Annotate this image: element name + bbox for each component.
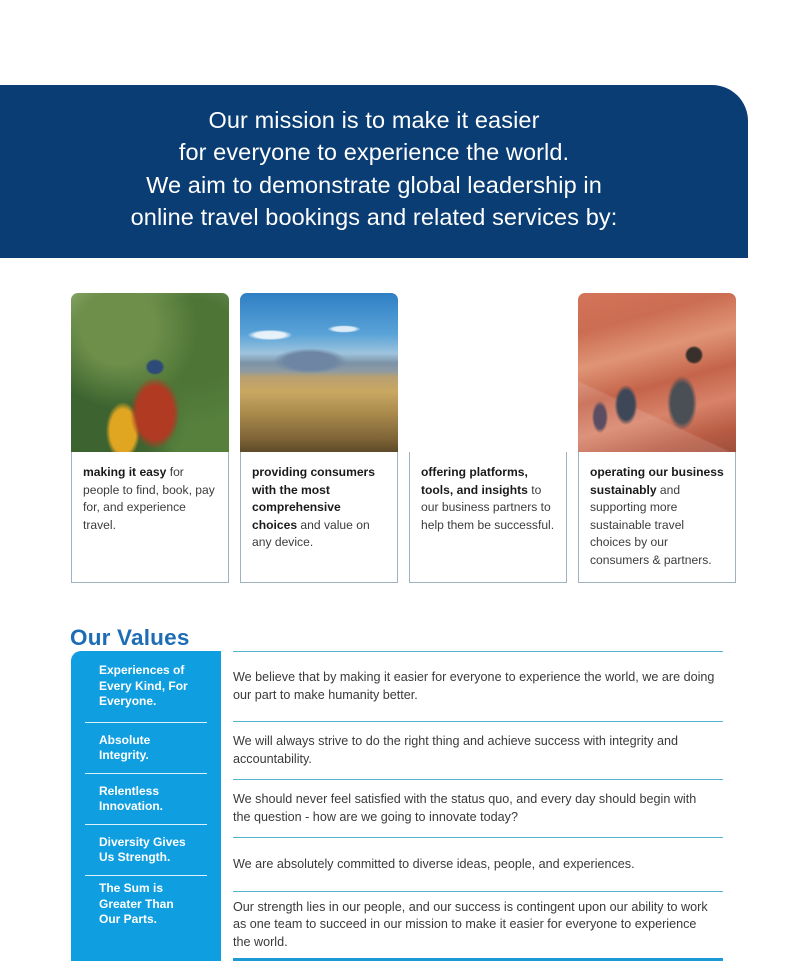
values-label-column: Experiences of Every Kind, For Everyone.…: [71, 651, 221, 961]
mission-line-2: for everyone to experience the world.: [179, 136, 569, 169]
red-rock-hikers-photo: [578, 293, 736, 452]
value-row: We will always strive to do the right th…: [233, 721, 723, 779]
pillar-card-text: making it easy for people to find, book,…: [83, 464, 217, 534]
pillar-card: operating our business sustainably and s…: [578, 293, 736, 583]
lake-grassland-photo: [240, 293, 398, 452]
value-description: We are absolutely committed to diverse i…: [233, 856, 635, 874]
pillar-card-body: operating our business sustainably and s…: [578, 452, 736, 583]
pillar-card: providing consumers with the most compre…: [240, 293, 398, 583]
pillar-card-lead: offering platforms, tools, and insights: [421, 465, 528, 497]
pillar-cards-row: making it easy for people to find, book,…: [71, 293, 725, 583]
value-label: Absolute Integrity.: [99, 733, 193, 764]
value-label: Diversity Gives Us Strength.: [99, 835, 193, 866]
values-description-column: We believe that by making it easier for …: [233, 651, 723, 961]
value-row: Our strength lies in our people, and our…: [233, 891, 723, 961]
pillar-card-text: operating our business sustainably and s…: [590, 464, 724, 570]
value-description: We should never feel satisfied with the …: [233, 791, 717, 826]
value-label-row: The Sum is Greater Than Our Parts.: [85, 875, 207, 933]
value-description: We will always strive to do the right th…: [233, 733, 717, 768]
pillar-card-body: offering platforms, tools, and insights …: [409, 452, 567, 583]
value-label-row: Relentless Innovation.: [85, 773, 207, 824]
pillar-card-lead: making it easy: [83, 465, 166, 479]
value-label: The Sum is Greater Than Our Parts.: [99, 881, 193, 928]
pillar-card-text: offering platforms, tools, and insights …: [421, 464, 555, 534]
our-values-heading: Our Values: [70, 625, 190, 651]
longtail-boat-photo: [409, 293, 567, 452]
value-label-row: Absolute Integrity.: [85, 722, 207, 773]
pillar-card-body: providing consumers with the most compre…: [240, 452, 398, 583]
value-row: We should never feel satisfied with the …: [233, 779, 723, 837]
pillar-card: making it easy for people to find, book,…: [71, 293, 229, 583]
mission-line-3: We aim to demonstrate global leadership …: [146, 169, 602, 202]
our-values-table: Experiences of Every Kind, For Everyone.…: [71, 651, 723, 961]
mission-statement-banner: Our mission is to make it easier for eve…: [0, 85, 748, 258]
value-description: Our strength lies in our people, and our…: [233, 899, 717, 952]
value-label: Experiences of Every Kind, For Everyone.: [99, 663, 193, 710]
value-label: Relentless Innovation.: [99, 784, 193, 815]
mission-line-1: Our mission is to make it easier: [209, 104, 540, 137]
pillar-card-body: making it easy for people to find, book,…: [71, 452, 229, 583]
value-label-row: Experiences of Every Kind, For Everyone.: [85, 651, 207, 722]
value-row: We believe that by making it easier for …: [233, 651, 723, 721]
value-row: We are absolutely committed to diverse i…: [233, 837, 723, 891]
value-description: We believe that by making it easier for …: [233, 669, 717, 704]
pillar-card: offering platforms, tools, and insights …: [409, 293, 567, 583]
value-label-row: Diversity Gives Us Strength.: [85, 824, 207, 875]
pillar-card-text: providing consumers with the most compre…: [252, 464, 386, 552]
mission-line-4: online travel bookings and related servi…: [131, 201, 618, 234]
jungle-hikers-photo: [71, 293, 229, 452]
